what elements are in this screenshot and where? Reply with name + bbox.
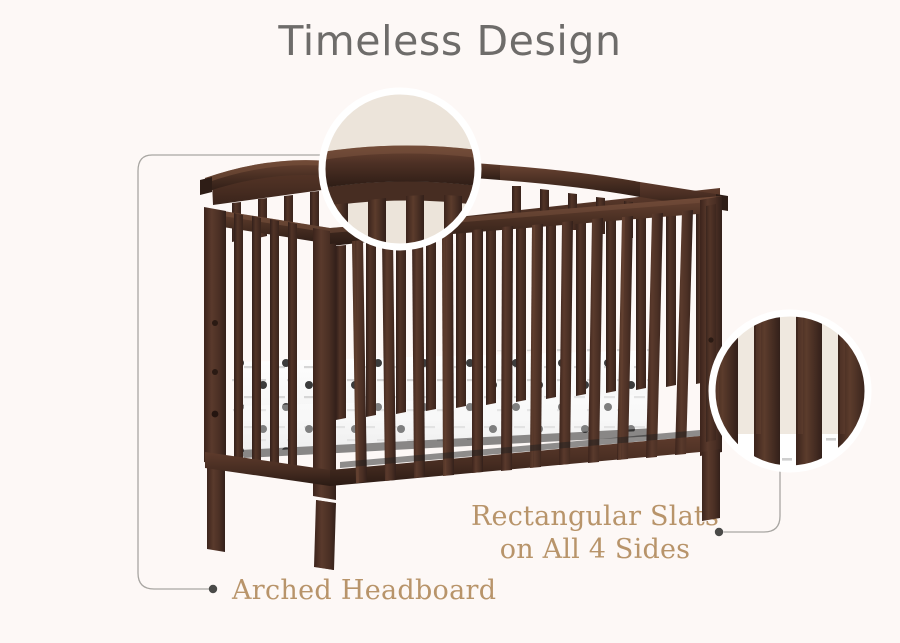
infographic-canvas: Timeless Design Arched Headboard Rectang… bbox=[0, 0, 900, 643]
magnifier-arched-headboard bbox=[322, 91, 478, 250]
magnifier-bubbles bbox=[0, 0, 900, 643]
magnifier-rectangular-slats bbox=[712, 313, 868, 469]
